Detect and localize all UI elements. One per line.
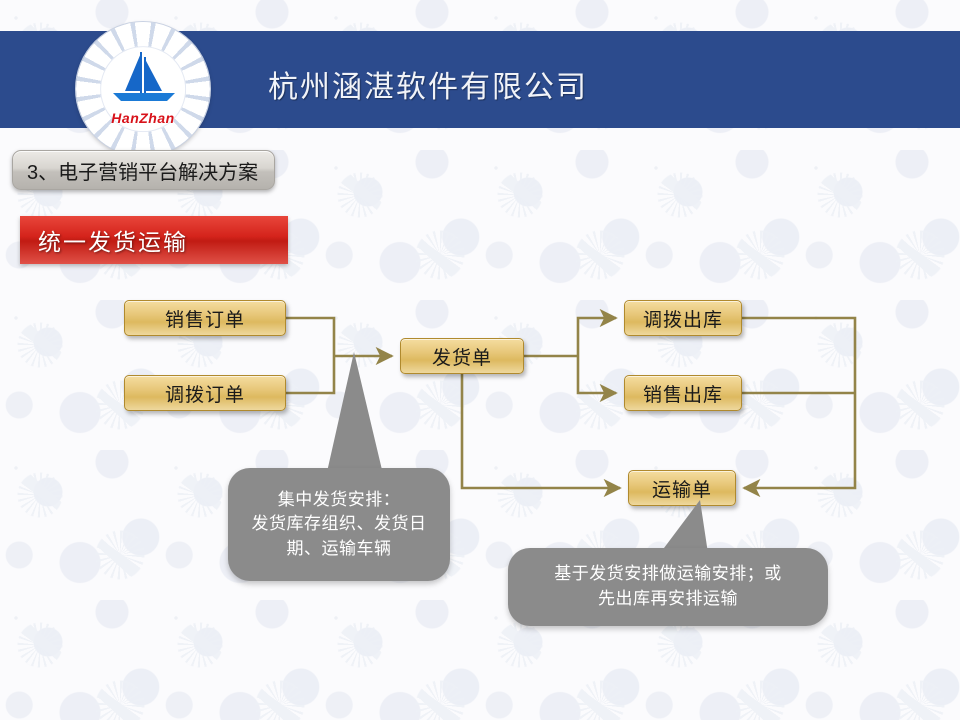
node-delivery-note[interactable]: 发货单 — [400, 338, 524, 374]
callout-transport-arrangement: 基于发货安排做运输安排；或 先出库再安排运输 — [508, 548, 828, 626]
callout-delivery-arrangement: 集中发货安排： 发货库存组织、发货日 期、运输车辆 — [228, 468, 450, 581]
node-label: 调拨出库 — [643, 305, 723, 332]
callout-line: 集中发货安排： — [252, 488, 427, 513]
callout-line: 期、运输车辆 — [252, 537, 427, 562]
node-label: 销售出库 — [643, 380, 723, 407]
callout-line: 基于发货安排做运输安排；或 — [554, 562, 782, 587]
node-label: 调拨订单 — [165, 380, 245, 407]
node-label: 发货单 — [432, 343, 492, 370]
connector-sales-order-to-delivery — [286, 318, 334, 356]
node-label: 销售订单 — [165, 305, 245, 332]
connector-delivery-to-transport — [462, 374, 620, 488]
connector-delivery-to-sales-out — [578, 356, 616, 393]
connector-delivery-to-transfer-out — [578, 318, 616, 356]
callout-line: 发货库存组织、发货日 — [252, 512, 427, 537]
callout-line: 先出库再安排运输 — [554, 587, 782, 612]
sailboat-icon — [105, 51, 181, 105]
node-transport-note[interactable]: 运输单 — [628, 470, 736, 506]
presentation-slide: 杭州涵湛软件有限公司 HanZhan 3、电子营销平台解决方案 统一发货运输 — [0, 0, 960, 720]
node-sales-out[interactable]: 销售出库 — [624, 375, 742, 411]
node-label: 运输单 — [652, 475, 712, 502]
flow-diagram: 销售订单 调拨订单 发货单 调拨出库 销售出库 运输单 集中发货安排： 发货库存… — [0, 0, 960, 720]
node-sales-order[interactable]: 销售订单 — [124, 300, 286, 336]
logo-brand-text: HanZhan — [111, 110, 174, 126]
node-transfer-out[interactable]: 调拨出库 — [624, 300, 742, 336]
connector-transfer-out-to-transport — [742, 318, 855, 488]
connector-transfer-order-to-delivery — [286, 356, 334, 393]
node-transfer-order[interactable]: 调拨订单 — [124, 375, 286, 411]
